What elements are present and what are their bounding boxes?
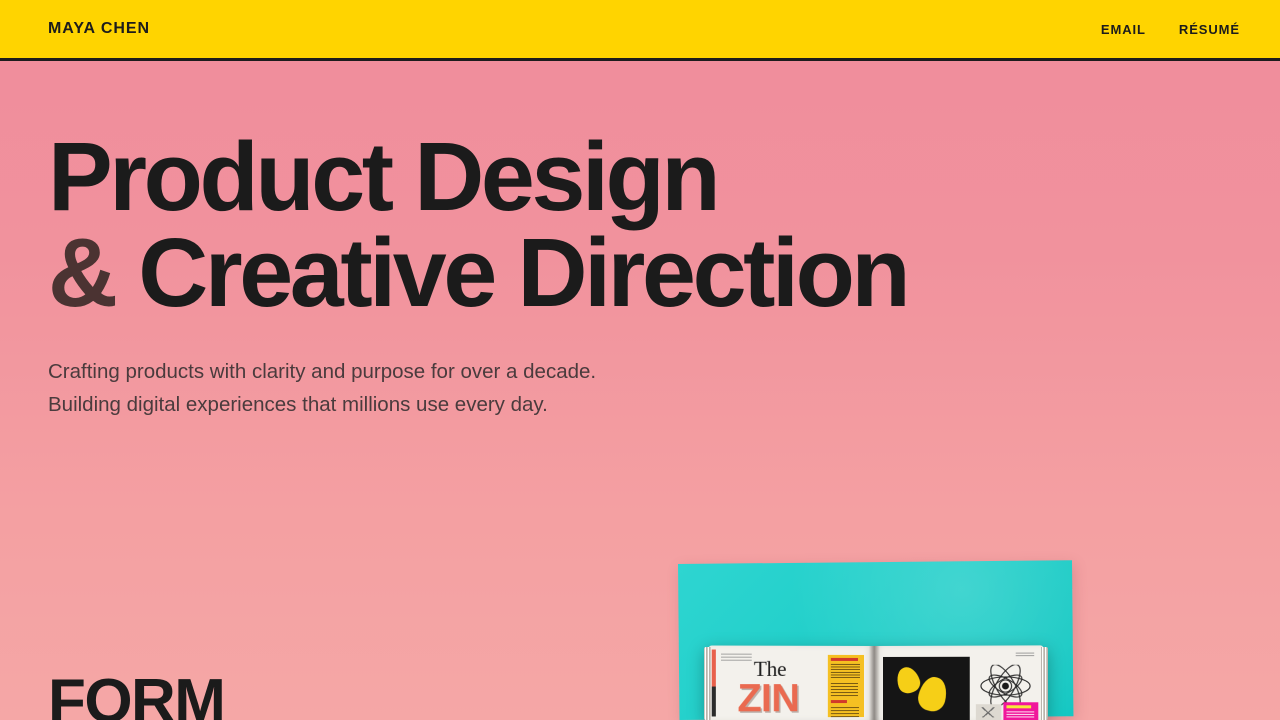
brand-logo[interactable]: MAYA CHEN [48, 21, 150, 37]
sidebar-text-block-2 [831, 683, 858, 696]
page-edges-left [704, 647, 711, 720]
hero-title-line-1: Product Design [48, 129, 1280, 225]
hero-title-line-2: & Creative Direction [48, 225, 1280, 321]
yellow-droplet-icon [894, 664, 923, 696]
magazine-yellow-sidebar [828, 655, 864, 717]
left-page-color-bar [712, 650, 716, 717]
page-edges-right [1041, 647, 1048, 720]
page-title: Product Design & Creative Direction [48, 129, 1280, 321]
left-page-micro-text [721, 654, 752, 661]
hero-subtitle: Crafting products with clarity and purpo… [48, 356, 1280, 422]
showcase-image[interactable]: The ZIN [678, 564, 1076, 720]
hero-ampersand: & [48, 218, 115, 327]
magazine-headline-text: ZIN [737, 679, 799, 718]
hero-title-line-2-text: Creative Direction [138, 218, 907, 327]
open-magazine: The ZIN [711, 646, 1041, 720]
top-navigation-bar: MAYA CHEN EMAIL RÉSUMÉ [0, 0, 1280, 61]
sticker-heading-bar [1006, 705, 1031, 708]
sidebar-text-block-3 [831, 707, 859, 718]
magazine-black-artwork [883, 657, 970, 720]
sidebar-text-block-1 [831, 664, 860, 678]
sticker-text-block [1006, 711, 1034, 718]
hero-section: Product Design & Creative Direction Craf… [0, 61, 1280, 422]
sidebar-heading-bar-2 [831, 700, 847, 703]
section-heading-form: FORM [48, 671, 224, 720]
yellow-droplet-icon-2 [915, 674, 950, 714]
magazine-pink-sticker [1003, 702, 1038, 720]
atom-diagram-icon [979, 665, 1032, 708]
right-page-folio [1016, 653, 1034, 658]
magazine-right-page [874, 645, 1043, 720]
magazine-left-page: The ZIN [709, 645, 874, 720]
nav-links: EMAIL RÉSUMÉ [1101, 23, 1240, 36]
nav-link-email[interactable]: EMAIL [1101, 23, 1146, 36]
hero-subtitle-line-2: Building digital experiences that millio… [48, 389, 1280, 422]
magazine-sketch-thumb [976, 704, 1002, 720]
hero-subtitle-line-1: Crafting products with clarity and purpo… [48, 356, 1280, 389]
sidebar-heading-bar [831, 658, 858, 661]
nav-link-resume[interactable]: RÉSUMÉ [1179, 23, 1240, 36]
